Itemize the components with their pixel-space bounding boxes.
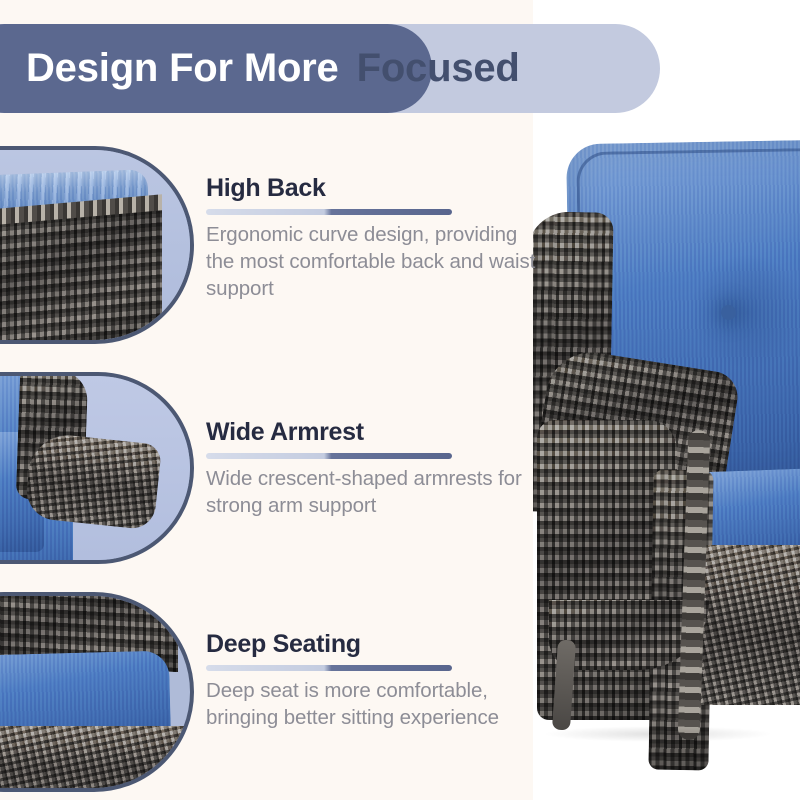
patio-chair-photo bbox=[533, 0, 800, 800]
thumb-wicker-base bbox=[0, 726, 188, 788]
feature-body: Ergonomic curve design, providing the mo… bbox=[206, 221, 546, 303]
feature-wide-armrest: Wide Armrest Wide crescent-shaped armres… bbox=[206, 418, 546, 519]
feature-title: Wide Armrest bbox=[206, 418, 546, 447]
feature-body: Wide crescent-shaped armrests for strong… bbox=[206, 465, 546, 520]
chair-base bbox=[691, 545, 800, 705]
feature-divider bbox=[206, 209, 452, 215]
thumb-wide-armrest bbox=[0, 372, 194, 564]
feature-divider bbox=[206, 665, 452, 671]
thumb-deep-seating bbox=[0, 592, 194, 792]
chair-shadow bbox=[543, 726, 773, 742]
thumb-high-back bbox=[0, 146, 194, 344]
thumb-armrest-top bbox=[24, 431, 162, 530]
feature-divider bbox=[206, 453, 452, 459]
banner-title: Design For More bbox=[26, 46, 339, 91]
banner-subtitle: Focused bbox=[357, 46, 520, 91]
feature-body: Deep seat is more comfortable, bringing … bbox=[206, 677, 546, 732]
feature-deep-seating: Deep Seating Deep seat is more comfortab… bbox=[206, 630, 546, 731]
feature-high-back: High Back Ergonomic curve design, provid… bbox=[206, 174, 546, 303]
banner-heading: Design For More Focused bbox=[26, 24, 520, 113]
feature-title: High Back bbox=[206, 174, 546, 203]
main-photo-panel bbox=[533, 0, 800, 800]
product-feature-graphic: Design For More Focused bbox=[0, 0, 800, 800]
feature-title: Deep Seating bbox=[206, 630, 546, 659]
chair-cushion-button bbox=[721, 305, 736, 320]
